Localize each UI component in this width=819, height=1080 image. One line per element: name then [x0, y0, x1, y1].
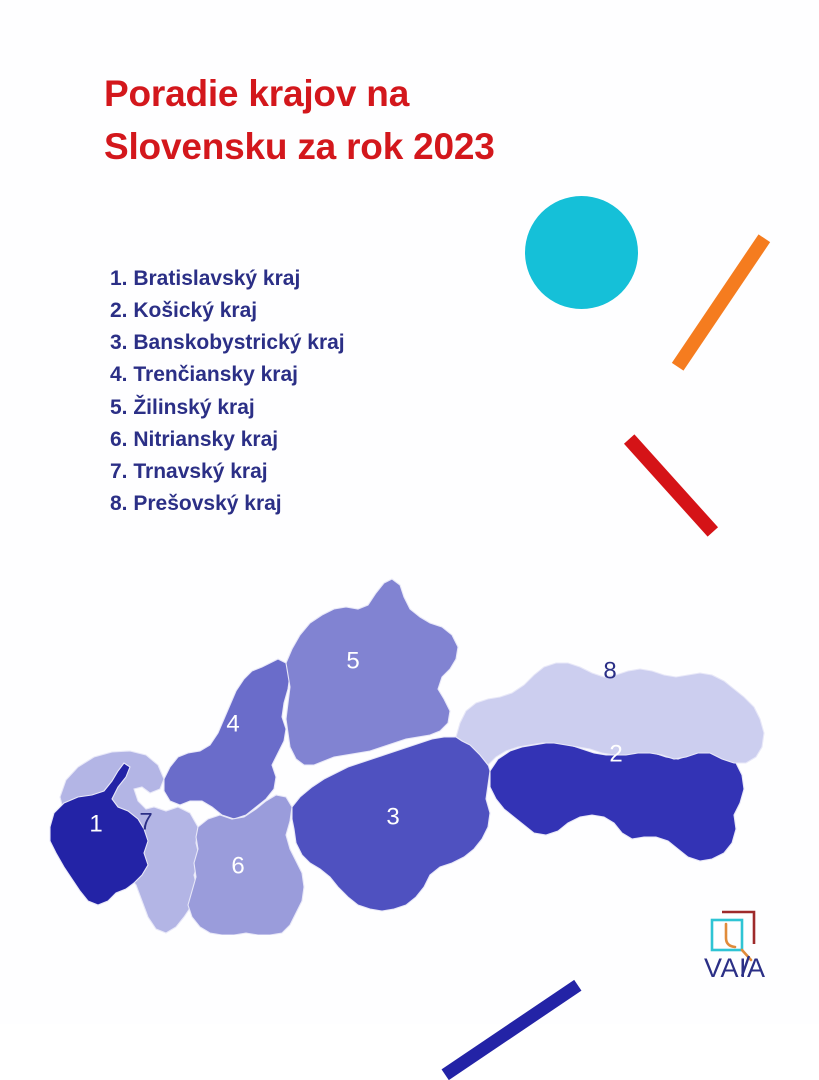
slovakia-map: 1 7 4 5 6 3 2 8 — [38, 575, 798, 935]
list-item: 6. Nitriansky kraj — [110, 424, 550, 456]
page-title-line-2: Slovensku za rok 2023 — [104, 121, 624, 174]
red-stripe-decoration — [624, 434, 718, 536]
list-item: 7. Trnavský kraj — [110, 456, 550, 488]
list-item: 4. Trenčiansky kraj — [110, 359, 550, 391]
map-region-nitriansky[interactable] — [188, 795, 304, 935]
list-item: 8. Prešovský kraj — [110, 488, 550, 520]
list-item: 5. Žilinský kraj — [110, 392, 550, 424]
orange-stripe-decoration — [672, 234, 770, 370]
map-region-trenciansky[interactable] — [164, 659, 290, 819]
vaia-logo[interactable]: VAIA — [702, 898, 782, 980]
page-title-line-1: Poradie krajov na — [104, 68, 624, 121]
map-region-presovsky[interactable] — [456, 663, 764, 765]
map-region-banskobystricky[interactable] — [292, 737, 490, 911]
page-title: Poradie krajov na Slovensku za rok 2023 — [104, 68, 624, 173]
map-region-kosicky[interactable] — [490, 743, 744, 861]
blue-stripe-decoration — [442, 980, 582, 1080]
list-item: 3. Banskobystrický kraj — [110, 327, 550, 359]
list-item: 1. Bratislavský kraj — [110, 263, 550, 295]
logo-orange-curve-icon — [726, 924, 735, 947]
map-region-zilinsky[interactable] — [286, 579, 458, 765]
ranking-list: 1. Bratislavský kraj 2. Košický kraj 3. … — [110, 263, 550, 520]
logo-wordmark: VAIA — [704, 953, 766, 980]
list-item: 2. Košický kraj — [110, 295, 550, 327]
